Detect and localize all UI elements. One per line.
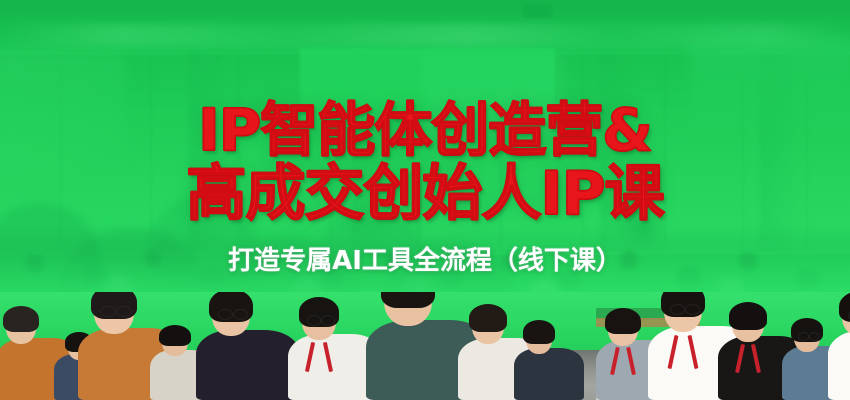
eyeglasses-icon xyxy=(23,322,35,331)
banner-text-block: IP智能体创造营& 高成交创始人IP课 打造专属AI工具全流程（线下课） xyxy=(0,0,850,310)
torso xyxy=(828,330,850,400)
eyeglasses-icon xyxy=(798,332,809,340)
eyeglasses-icon xyxy=(218,309,233,320)
course-promo-banner: IP智能体创造营& 高成交创始人IP课 打造专属AI工具全流程（线下课） xyxy=(0,0,850,400)
headline-line-2: 高成交创始人IP课 xyxy=(186,160,663,228)
headline-line-1: IP智能体创造营& xyxy=(198,96,652,164)
hair xyxy=(159,325,191,347)
hair xyxy=(523,320,555,343)
torso xyxy=(196,330,300,400)
eyeglasses-icon xyxy=(809,332,820,340)
hair xyxy=(605,308,641,335)
torso xyxy=(514,348,584,400)
eyeglasses-icon xyxy=(11,322,23,331)
eyeglasses-icon xyxy=(321,315,335,325)
eyeglasses-icon xyxy=(307,315,321,325)
banner-subtitle: 打造专属AI工具全流程（线下课） xyxy=(228,240,622,277)
person-center-3 xyxy=(514,308,584,400)
